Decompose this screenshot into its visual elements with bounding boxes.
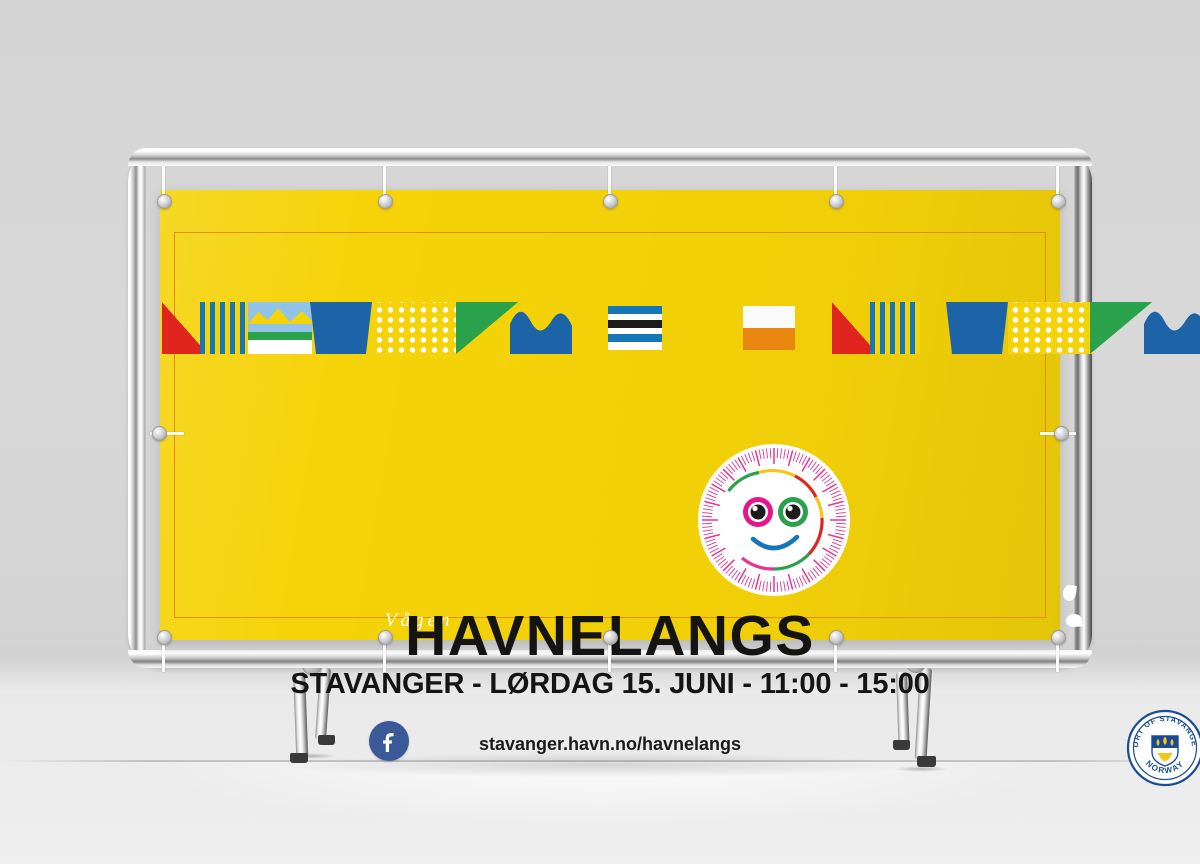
droplet-icon-2	[1065, 613, 1082, 628]
flag-blue-wave-2	[1144, 302, 1200, 354]
grommet-bottom-2	[378, 630, 393, 645]
grommet-top-3	[603, 194, 618, 209]
flag-blue-vertical-stripes	[200, 302, 250, 354]
facebook-f-glyph	[377, 729, 401, 753]
sun-face-svg	[696, 442, 852, 598]
grommet-bottom-5	[1051, 630, 1066, 645]
facebook-icon[interactable]	[369, 721, 409, 761]
grommet-bottom-3	[603, 630, 618, 645]
event-subtitle: STAVANGER - LØRDAG 15. JUNI - 11:00 - 15…	[160, 668, 1060, 701]
event-url: stavanger.havn.no/havnelangs	[160, 734, 1060, 755]
wave-svg-2	[1144, 302, 1200, 354]
flag-white-orange-stack	[743, 306, 795, 350]
right-foot-front	[917, 756, 936, 767]
port-of-stavanger-seal: PORT OF STAVANGER NORWAY	[1125, 708, 1200, 788]
flag-white-dot-grid	[372, 302, 458, 354]
flag-blue-vertical-stripes-2	[870, 302, 920, 354]
flag-green-triangle	[456, 302, 518, 354]
flag-group-left	[160, 302, 460, 354]
flag-blue-wave	[510, 302, 572, 354]
grommet-right-mid	[1054, 426, 1069, 441]
banner-inner-border	[174, 232, 1046, 618]
grommet-top-5	[1051, 194, 1066, 209]
flag-blue-black-white-stripes	[608, 306, 662, 350]
sun-left-eye	[743, 497, 773, 527]
sun-face-logo	[696, 442, 852, 598]
flag-blue-trapezoid	[310, 302, 372, 354]
trapezoid-svg-2	[946, 302, 1008, 354]
flag-mountain-block	[248, 302, 312, 354]
grommet-top-2	[378, 194, 393, 209]
mountain-svg	[248, 302, 312, 354]
flag-white-dot-grid-2	[1008, 302, 1094, 354]
seal-svg: PORT OF STAVANGER NORWAY	[1125, 708, 1200, 788]
frame-top-rail	[128, 148, 1092, 166]
flag-green-triangle-2	[1090, 302, 1152, 354]
trapezoid-svg	[310, 302, 372, 354]
sun-right-eye	[778, 497, 808, 527]
grommet-top-4	[829, 194, 844, 209]
flag-group-right	[832, 302, 1072, 354]
yellow-banner: Vågen HAVNELANGS STAVANGER - LØRDAG 15. …	[160, 190, 1060, 640]
grommet-top-1	[157, 194, 172, 209]
grommet-bottom-1	[157, 630, 172, 645]
flag-blue-trapezoid-2	[946, 302, 1008, 354]
grommet-bottom-4	[829, 630, 844, 645]
grommet-left-mid	[152, 426, 167, 441]
banner-mockup-scene: Vågen HAVNELANGS STAVANGER - LØRDAG 15. …	[0, 0, 1200, 864]
seal-shield	[1152, 736, 1178, 766]
wave-svg	[510, 302, 572, 354]
